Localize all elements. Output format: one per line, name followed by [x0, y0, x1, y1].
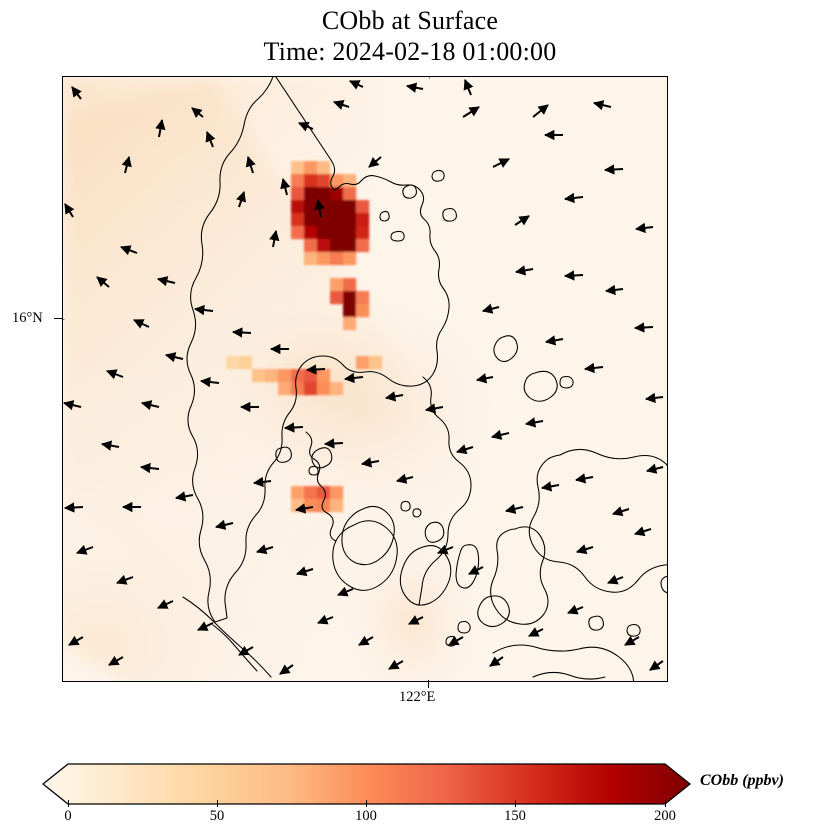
colorbar-tick-0	[68, 800, 69, 807]
colorbar-ticklabel-50: 50	[210, 808, 225, 825]
colorbar-label: CObb (ppbv)	[700, 772, 784, 790]
colorbar-ticklabel-200: 200	[654, 808, 676, 825]
colorbar-tick-50	[217, 800, 218, 807]
gridline-16N	[63, 319, 667, 320]
page-title: CObb at Surface	[0, 6, 820, 37]
y-tick-label-16N: 16°N	[12, 310, 43, 327]
y-tick-mark-16N	[54, 318, 62, 319]
colorbar-tick-150	[515, 800, 516, 807]
colorbar-tick-200	[665, 800, 666, 807]
gridline-122E	[429, 77, 430, 681]
gridline-layer	[63, 77, 667, 681]
x-tick-label-122E: 122°E	[399, 689, 435, 706]
map-plot-area[interactable]	[62, 76, 668, 682]
figure-title-block: CObb at Surface Time: 2024-02-18 01:00:0…	[0, 6, 820, 67]
colorbar-ticklabel-100: 100	[355, 808, 377, 825]
colorbar-ticklabel-0: 0	[64, 808, 71, 825]
colorbar[interactable]: 0 50 100 150 200	[36, 762, 692, 806]
figure-subtitle: Time: 2024-02-18 01:00:00	[0, 37, 820, 68]
x-tick-mark-122E	[428, 680, 429, 688]
colorbar-gradient[interactable]	[36, 762, 692, 806]
colorbar-ticklabel-150: 150	[504, 808, 526, 825]
colorbar-tick-100	[366, 800, 367, 807]
